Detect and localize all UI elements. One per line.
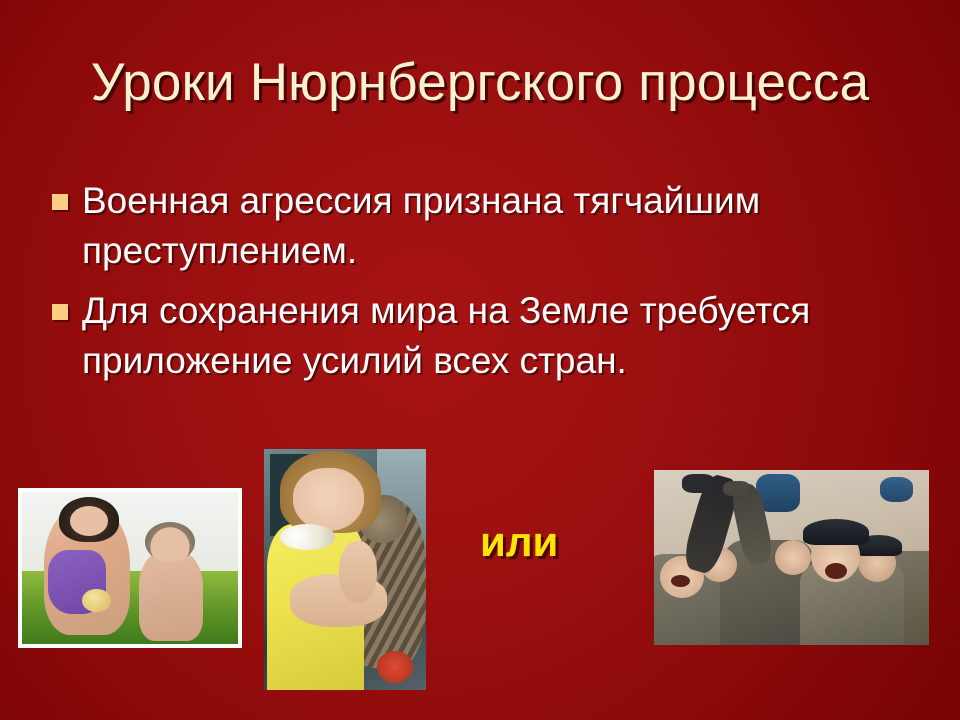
photo-crowd-fist-1 <box>682 474 715 493</box>
photo-children-chick-boy-head <box>145 522 195 562</box>
photo-children-chick-girl-face <box>70 506 109 536</box>
presentation-slide: Уроки Нюрнбергского процесса Военная агр… <box>0 0 960 720</box>
photo-girl-kitten-collar <box>280 524 335 551</box>
photo-crowd-beret <box>803 519 869 545</box>
bullet-item-1: Для сохранения мира на Земле требуется п… <box>52 286 912 386</box>
bullet-item-1-label: Для сохранения мира на Земле требуется п… <box>82 286 912 386</box>
connector-label: или <box>480 519 558 565</box>
photo-girl-kitten-arm-upper <box>339 541 378 604</box>
photo-crowd-fist-2 <box>723 481 751 497</box>
photo-crowd-mouth-1 <box>671 575 690 587</box>
photo-girl-kitten-face <box>293 468 364 531</box>
photo-crowd-blue-figure-2 <box>880 477 913 502</box>
photo-crowd-mouth-3 <box>825 563 847 579</box>
bullet-item-0-label: Военная агрессия признана тягчайшим прес… <box>82 176 912 276</box>
photo-children-chick-chick <box>82 589 110 612</box>
photo-crowd <box>654 470 929 645</box>
bullet-list: Военная агрессия признана тягчайшим прес… <box>52 176 912 396</box>
slide-title: Уроки Нюрнбергского процесса <box>0 52 960 114</box>
photo-children-chick-boy-body <box>139 550 204 641</box>
photo-girl-kitten <box>264 449 426 690</box>
photo-children-chick <box>18 488 242 648</box>
photo-girl-kitten-red-object <box>377 651 413 682</box>
bullet-square-icon <box>52 194 68 210</box>
bullet-square-icon <box>52 304 68 320</box>
bullet-item-0: Военная агрессия признана тягчайшим прес… <box>52 176 912 276</box>
photo-crowd-head-5 <box>775 540 811 575</box>
